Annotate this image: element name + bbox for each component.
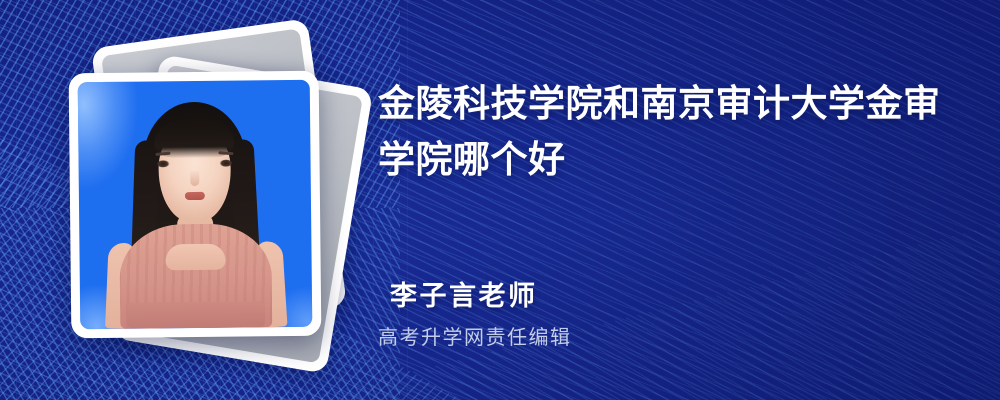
portrait-nose — [190, 170, 199, 186]
banner-text-block: 金陵科技学院和南京审计大学金审学院哪个好 李子言老师 高考升学网责任编辑 — [378, 0, 978, 400]
photo-card-stack — [58, 32, 358, 362]
author-role: 高考升学网责任编辑 — [378, 321, 572, 350]
front-portrait-card — [69, 71, 322, 339]
avatar — [101, 95, 289, 329]
portrait-dress-waist — [127, 301, 265, 328]
portrait-mouth — [185, 192, 205, 200]
page-title: 金陵科技学院和南京审计大学金审学院哪个好 — [378, 76, 963, 188]
article-header-banner: 金陵科技学院和南京审计大学金审学院哪个好 李子言老师 高考升学网责任编辑 — [0, 0, 1000, 400]
author-name: 李子言老师 — [390, 274, 538, 313]
portrait-photo — [78, 80, 313, 329]
portrait-chest — [165, 244, 225, 271]
